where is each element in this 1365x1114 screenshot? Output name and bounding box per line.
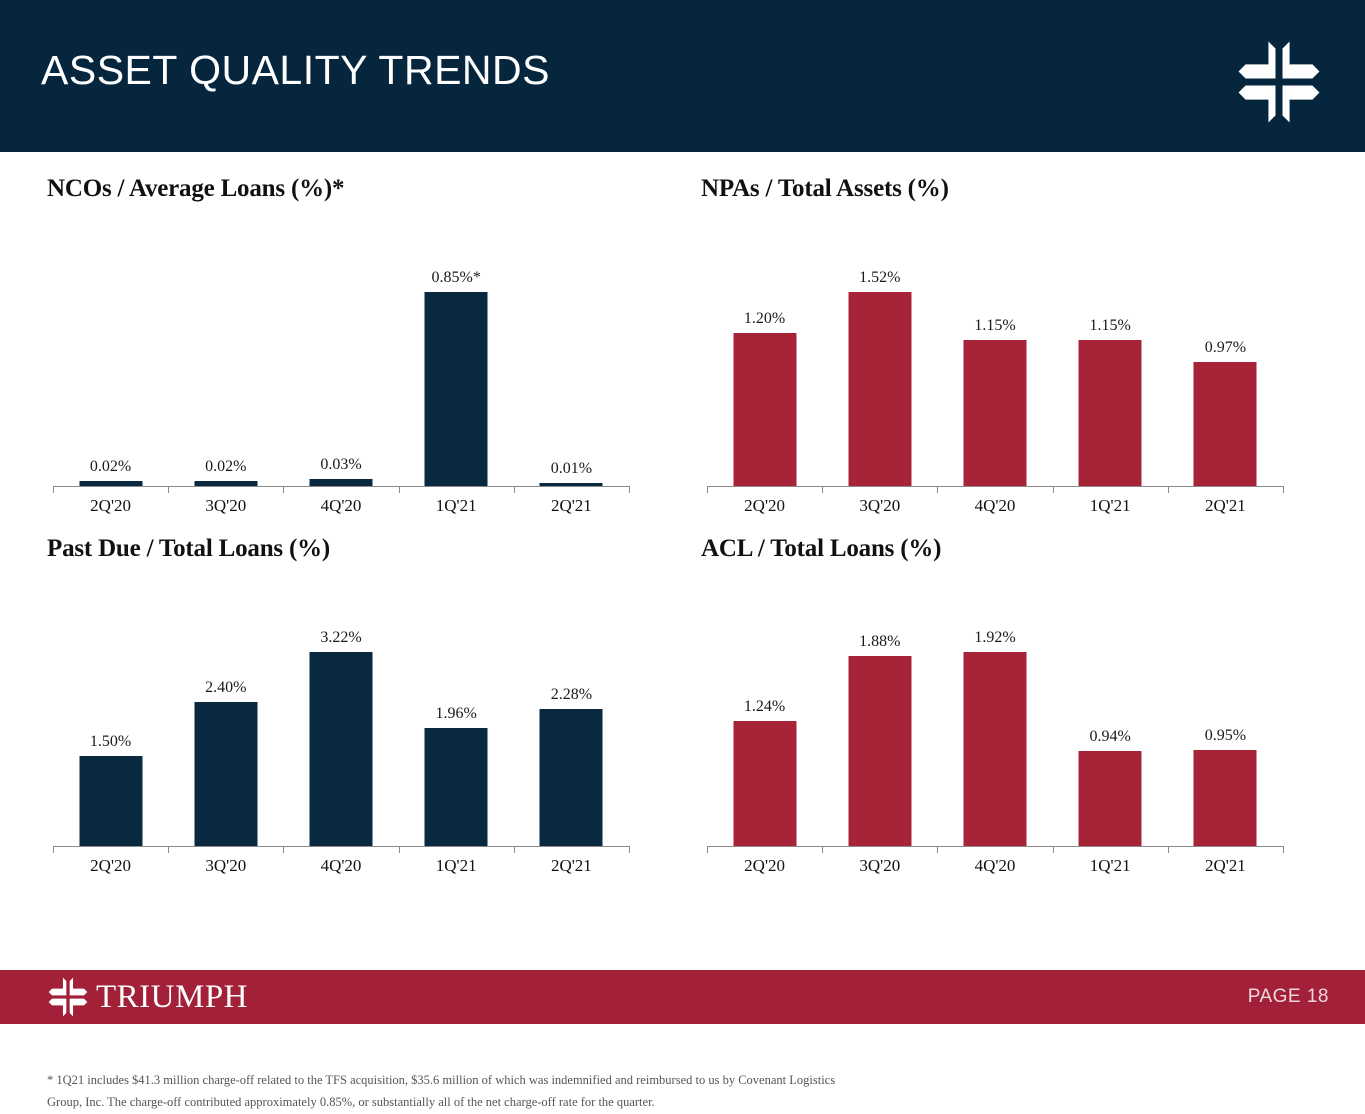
category-label: 2Q'20: [744, 856, 785, 876]
axis-tick: [283, 846, 284, 853]
axis-tick: [937, 486, 938, 493]
category-label: 2Q'21: [1205, 496, 1246, 516]
footnote: * 1Q21 includes $41.3 million charge-off…: [47, 1070, 1147, 1114]
category-label: 1Q'21: [1090, 856, 1131, 876]
category-label: 4Q'20: [975, 856, 1016, 876]
bar: [963, 340, 1026, 486]
page-title: ASSET QUALITY TRENDS: [41, 47, 550, 94]
bar-group: 1.52%3Q'20: [822, 244, 937, 486]
chart-panel-past-due: Past Due / Total Loans (%) 1.50%2Q'202.4…: [47, 535, 647, 915]
x-axis-line: [53, 486, 629, 487]
axis-tick: [707, 486, 708, 493]
bar-value-label: 2.40%: [205, 679, 246, 697]
bar: [194, 481, 257, 486]
brand-wordmark: TRIUMPH: [96, 979, 248, 1016]
axis-tick: [1053, 846, 1054, 853]
category-label: 2Q'21: [551, 856, 592, 876]
category-label: 2Q'20: [90, 496, 131, 516]
category-label: 1Q'21: [436, 856, 477, 876]
chart-title-ncos: NCOs / Average Loans (%)*: [47, 175, 344, 203]
bar-value-label: 1.15%: [974, 317, 1015, 335]
bar: [540, 709, 603, 846]
category-label: 1Q'21: [436, 496, 477, 516]
bar-group: 1.92%4Q'20: [937, 604, 1052, 846]
bar-group: 0.95%2Q'21: [1168, 604, 1283, 846]
axis-tick: [399, 846, 400, 853]
bar-group: 1.20%2Q'20: [707, 244, 822, 486]
category-label: 2Q'21: [1205, 856, 1246, 876]
bar-group: 0.94%1Q'21: [1053, 604, 1168, 846]
axis-tick: [822, 846, 823, 853]
bar-value-label: 0.02%: [90, 458, 131, 476]
slide-footer: TRIUMPH PAGE 18: [0, 970, 1365, 1024]
triumph-cross-icon: [47, 976, 89, 1018]
bar-value-label: 1.15%: [1090, 317, 1131, 335]
chart-plot-past-due: 1.50%2Q'202.40%3Q'203.22%4Q'201.96%1Q'21…: [47, 583, 629, 873]
bar: [963, 652, 1026, 846]
bar-group: 1.15%1Q'21: [1053, 244, 1168, 486]
bar-group: 1.15%4Q'20: [937, 244, 1052, 486]
axis-tick: [1283, 846, 1284, 853]
bar-group: 1.96%1Q'21: [399, 604, 514, 846]
axis-tick: [629, 846, 630, 853]
bar-value-label: 0.94%: [1090, 728, 1131, 746]
bar: [425, 728, 488, 846]
axis-tick: [937, 846, 938, 853]
bar-value-label: 0.02%: [205, 458, 246, 476]
bar: [79, 756, 142, 846]
bar-group: 1.50%2Q'20: [53, 604, 168, 846]
category-label: 4Q'20: [321, 856, 362, 876]
x-axis-line: [707, 846, 1283, 847]
category-label: 3Q'20: [205, 496, 246, 516]
chart-panel-npas: NPAs / Total Assets (%) 1.20%2Q'201.52%3…: [701, 175, 1301, 555]
bar-value-label: 0.01%: [551, 460, 592, 478]
bar: [79, 481, 142, 486]
x-axis-line: [707, 486, 1283, 487]
category-label: 4Q'20: [321, 496, 362, 516]
category-label: 2Q'20: [90, 856, 131, 876]
bar-value-label: 2.28%: [551, 686, 592, 704]
bar-group: 1.24%2Q'20: [707, 604, 822, 846]
bar-value-label: 1.52%: [859, 269, 900, 287]
bar: [848, 656, 911, 846]
bar-group: 2.40%3Q'20: [168, 604, 283, 846]
slide-header: ASSET QUALITY TRENDS: [0, 0, 1365, 152]
page-number: PAGE 18: [1248, 986, 1329, 1008]
axis-tick: [822, 486, 823, 493]
category-label: 2Q'20: [744, 496, 785, 516]
bar: [194, 702, 257, 846]
category-label: 2Q'21: [551, 496, 592, 516]
bar: [1079, 340, 1142, 486]
chart-plot-ncos: 0.02%2Q'200.02%3Q'200.03%4Q'200.85%*1Q'2…: [47, 223, 629, 513]
triumph-cross-icon: [1235, 38, 1323, 126]
axis-tick: [399, 486, 400, 493]
bar-value-label: 1.24%: [744, 698, 785, 716]
axis-tick: [514, 846, 515, 853]
bar-value-label: 3.22%: [320, 629, 361, 647]
axis-tick: [53, 846, 54, 853]
bar-group: 3.22%4Q'20: [283, 604, 398, 846]
bar-group: 0.85%*1Q'21: [399, 244, 514, 486]
bar: [309, 652, 372, 846]
bar: [425, 292, 488, 486]
category-label: 3Q'20: [859, 856, 900, 876]
bar-group: 0.02%2Q'20: [53, 244, 168, 486]
category-label: 1Q'21: [1090, 496, 1131, 516]
bar-group: 0.03%4Q'20: [283, 244, 398, 486]
bar-value-label: 1.50%: [90, 733, 131, 751]
bar-group: 0.97%2Q'21: [1168, 244, 1283, 486]
axis-tick: [1053, 486, 1054, 493]
bar-group: 0.01%2Q'21: [514, 244, 629, 486]
slide-body: NCOs / Average Loans (%)* 0.02%2Q'200.02…: [0, 152, 1365, 972]
chart-plot-acl: 1.24%2Q'201.88%3Q'201.92%4Q'200.94%1Q'21…: [701, 583, 1283, 873]
chart-title-npas: NPAs / Total Assets (%): [701, 175, 949, 203]
chart-title-acl: ACL / Total Loans (%): [701, 535, 941, 563]
bar: [1194, 362, 1257, 486]
footnote-line-1: * 1Q21 includes $41.3 million charge-off…: [47, 1070, 1147, 1092]
axis-tick: [283, 486, 284, 493]
bar: [733, 333, 796, 486]
bar-value-label: 0.97%: [1205, 339, 1246, 357]
bar: [848, 292, 911, 486]
chart-panel-acl: ACL / Total Loans (%) 1.24%2Q'201.88%3Q'…: [701, 535, 1301, 915]
axis-tick: [1168, 846, 1169, 853]
category-label: 3Q'20: [859, 496, 900, 516]
axis-tick: [1168, 486, 1169, 493]
bar: [309, 479, 372, 486]
category-label: 3Q'20: [205, 856, 246, 876]
axis-tick: [514, 486, 515, 493]
bar-value-label: 1.92%: [974, 629, 1015, 647]
bar-value-label: 0.95%: [1205, 727, 1246, 745]
bar-value-label: 1.88%: [859, 633, 900, 651]
axis-tick: [53, 486, 54, 493]
bar-value-label: 0.85%*: [432, 269, 481, 287]
axis-tick: [168, 486, 169, 493]
chart-plot-npas: 1.20%2Q'201.52%3Q'201.15%4Q'201.15%1Q'21…: [701, 223, 1283, 513]
bar: [733, 721, 796, 846]
x-axis-line: [53, 846, 629, 847]
axis-tick: [1283, 486, 1284, 493]
bar-value-label: 1.20%: [744, 310, 785, 328]
bar-group: 2.28%2Q'21: [514, 604, 629, 846]
bar-group: 1.88%3Q'20: [822, 604, 937, 846]
bar: [1194, 750, 1257, 846]
axis-tick: [707, 846, 708, 853]
chart-panel-ncos: NCOs / Average Loans (%)* 0.02%2Q'200.02…: [47, 175, 647, 555]
category-label: 4Q'20: [975, 496, 1016, 516]
bar: [1079, 751, 1142, 846]
footnote-line-2: Group, Inc. The charge-off contributed a…: [47, 1092, 1147, 1114]
bar: [540, 483, 603, 486]
bar-group: 0.02%3Q'20: [168, 244, 283, 486]
bar-value-label: 0.03%: [320, 456, 361, 474]
axis-tick: [168, 846, 169, 853]
bar-value-label: 1.96%: [436, 705, 477, 723]
axis-tick: [629, 486, 630, 493]
chart-title-past-due: Past Due / Total Loans (%): [47, 535, 330, 563]
